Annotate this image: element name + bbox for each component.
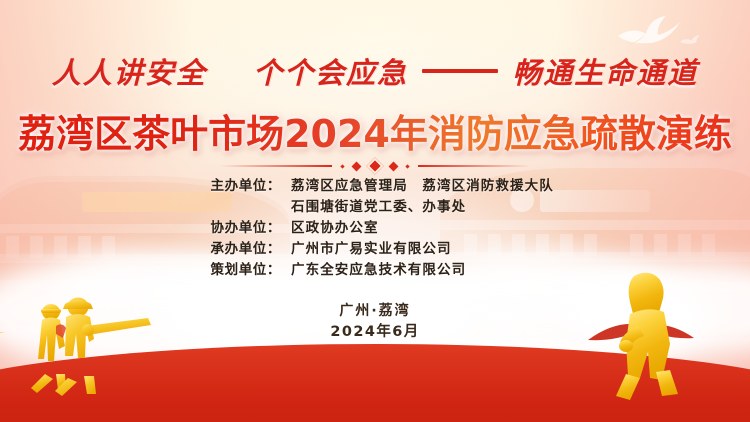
organizer-value: 广州市广易实业有限公司: [281, 239, 555, 260]
divider-diamond-left: [352, 161, 362, 171]
slogan-part-3: 畅通生命通道: [512, 56, 698, 90]
organizer-value: 荔湾区应急管理局 荔湾区消防救援大队: [281, 176, 555, 197]
organizer-label: 承办单位：: [195, 239, 281, 260]
organizer-label: 协办单位：: [195, 218, 281, 239]
slogan-part-1: 人人讲安全: [52, 56, 207, 90]
organizer-label: 策划单位：: [195, 260, 281, 281]
slogan-line: 人人讲安全 个个会应急 畅通生命通道: [0, 50, 750, 92]
divider-ornament: [0, 160, 750, 172]
divider-dot-right: [405, 164, 409, 168]
event-place: 广州·荔湾: [0, 300, 750, 320]
slogan-dash: [422, 69, 498, 73]
organizer-value: 广东全安应急技术有限公司: [281, 260, 555, 281]
organizer-row: 承办单位： 广州市广易实业有限公司: [0, 239, 750, 260]
divider-diamond-center: [367, 158, 384, 175]
divider-dot-left: [340, 164, 344, 168]
dove-icon-small: [679, 35, 701, 46]
slogan-part-2: 个个会应急: [253, 56, 408, 90]
organizer-value: 石围塘街道党工委、办事处: [281, 197, 555, 218]
organizer-row: 石围塘街道党工委、办事处: [0, 197, 750, 218]
organizer-list: 主办单位： 荔湾区应急管理局 荔湾区消防救援大队 石围塘街道党工委、办事处 协办…: [0, 176, 750, 281]
divider-line-right: [418, 165, 530, 167]
divider-diamond-right: [389, 161, 399, 171]
organizer-row: 主办单位： 荔湾区应急管理局 荔湾区消防救援大队: [0, 176, 750, 197]
organizer-label: 主办单位：: [195, 176, 281, 197]
event-date: 2024年6月: [0, 320, 750, 341]
divider-line-left: [220, 165, 332, 167]
dove-icon: [612, 14, 682, 48]
poster-canvas: 人人讲安全 个个会应急 畅通生命通道 荔湾区茶叶市场2024年消防应急疏散演练 …: [0, 0, 750, 422]
organizer-value: 区政协办公室: [281, 218, 555, 239]
organizer-row: 协办单位： 区政协办公室: [0, 218, 750, 239]
page-title: 荔湾区茶叶市场2024年消防应急疏散演练: [0, 103, 750, 158]
organizer-row: 策划单位： 广东全安应急技术有限公司: [0, 260, 750, 281]
